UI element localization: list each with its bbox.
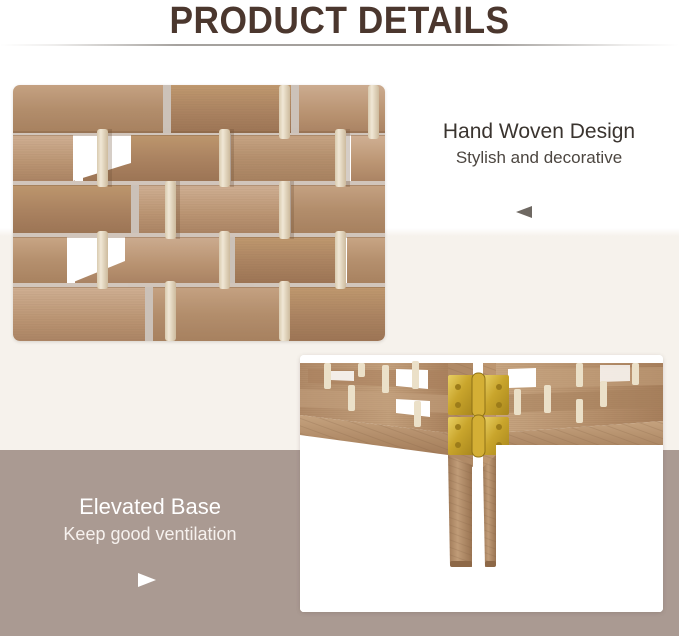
callout-elevated-base: Elevated Base Keep good ventilation (16, 492, 284, 547)
weave-rows (13, 85, 385, 341)
legs (448, 455, 496, 567)
header: PRODUCT DETAILS (0, 0, 679, 48)
brass-hinge-upper (448, 373, 509, 417)
arrow-left-icon (516, 206, 532, 218)
right-panel (496, 363, 663, 455)
title-divider (0, 44, 679, 46)
arrow-right-icon (138, 573, 156, 587)
callout-hand-woven-design: Hand Woven Design Stylish and decorative (410, 118, 668, 170)
callout-headline: Elevated Base (16, 492, 284, 521)
callout-headline: Hand Woven Design (410, 118, 668, 145)
callout-subline: Stylish and decorative (410, 146, 668, 170)
page-title: PRODUCT DETAILS (24, 1, 655, 41)
woven-panel-illustration (13, 85, 385, 341)
photo-divider-corner-hinge (300, 355, 663, 612)
callout-subline: Keep good ventilation (16, 522, 284, 547)
photo-woven-panel-closeup (13, 85, 385, 341)
divider-corner-illustration (300, 355, 663, 612)
